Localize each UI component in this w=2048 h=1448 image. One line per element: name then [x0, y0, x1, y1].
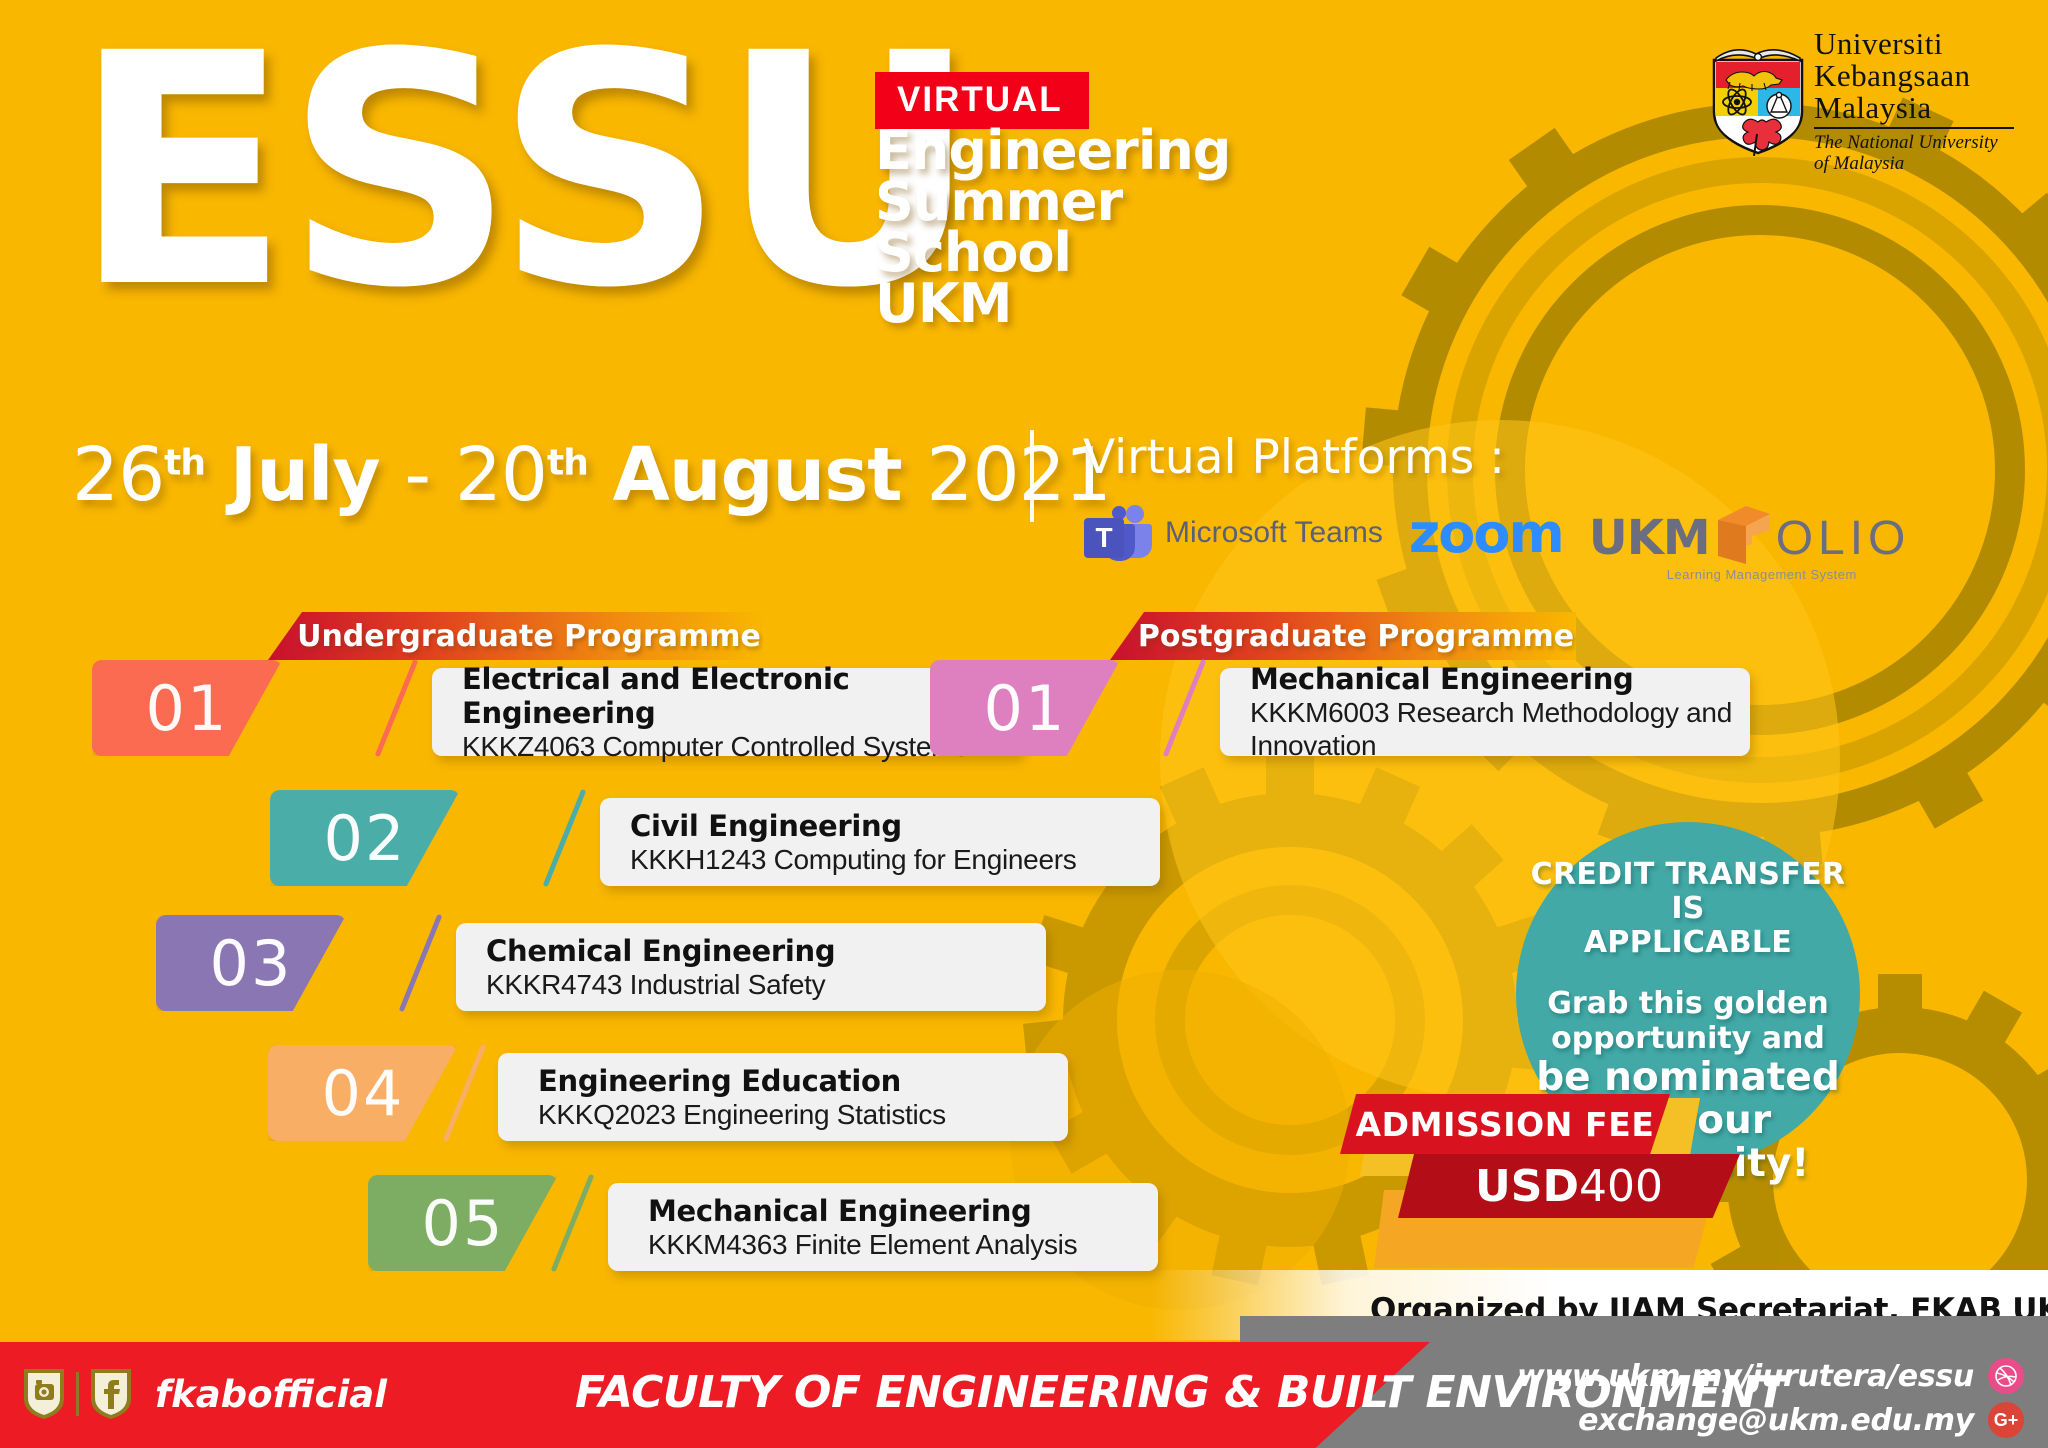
programme-course: KKKR4743 Industrial Safety [486, 968, 1046, 1001]
fee-ribbon-amount: USD400 [1398, 1154, 1740, 1218]
date-day-end: 20 [455, 432, 547, 518]
programme-row: Chemical Engineering KKKR4743 Industrial… [156, 915, 876, 1011]
accent-slash [375, 659, 419, 757]
contact-website[interactable]: www.ukm.my/jurutera/essu [1517, 1359, 1974, 1394]
ukm-tagline-1: The National University [1814, 132, 2014, 153]
ukm-line-3: Malaysia [1814, 92, 2014, 124]
page-title: ESSU [72, 22, 973, 322]
event-dates: 26th July - 20th August 2021 [72, 432, 1111, 518]
programme-row: Mechanical Engineering KKKM6003 Research… [930, 660, 1780, 756]
programme-number: 02 [324, 802, 407, 875]
google-plus-icon[interactable]: G+ [1988, 1402, 2024, 1438]
ukm-logo: Universiti Kebangsaan Malaysia The Natio… [1710, 28, 2020, 168]
accent-slash [1163, 659, 1207, 757]
facebook-icon[interactable] [89, 1367, 133, 1421]
contact-website-row[interactable]: www.ukm.my/jurutera/essu [1517, 1358, 2024, 1394]
date-day-start: 26 [72, 432, 164, 518]
programme-title: Engineering Education [538, 1064, 1068, 1098]
programme-number-badge: 02 [270, 790, 460, 886]
folio-cube-icon [1712, 500, 1774, 570]
credit-transfer-body-line-1: Grab this golden [1536, 986, 1840, 1021]
credit-transfer-headline-line-2: APPLICABLE [1516, 926, 1860, 960]
programme-number-badge: 04 [268, 1045, 458, 1141]
event-subtitle: Engineering Summer School UKM [875, 126, 1230, 330]
programme-card: Mechanical Engineering KKKM4363 Finite E… [608, 1183, 1158, 1271]
fee-ribbon-label: ADMISSION FEE [1340, 1094, 1670, 1154]
programme-number-badge: 03 [156, 915, 346, 1011]
programme-number: 04 [322, 1057, 405, 1130]
accent-slash [543, 789, 587, 887]
social-divider [76, 1372, 79, 1416]
programme-number-badge: 01 [930, 660, 1120, 756]
programme-card: Mechanical Engineering KKKM6003 Research… [1220, 668, 1750, 756]
social-links[interactable]: fkabofficial [22, 1367, 387, 1421]
programme-row: Civil Engineering KKKH1243 Computing for… [270, 790, 1030, 886]
programme-number: 05 [422, 1187, 505, 1260]
platforms-title: Virtual Platforms : [1083, 430, 1505, 485]
platform-ukm-folio: UKM OLIO Learning Management System [1589, 500, 1911, 566]
date-month-start: July [230, 432, 380, 518]
ukm-line-2: Kebangsaan [1814, 60, 2014, 92]
credit-transfer-headline-line-1: CREDIT TRANSFER IS [1516, 858, 1860, 926]
programme-row: Mechanical Engineering KKKM4363 Finite E… [368, 1175, 1068, 1271]
date-month-end: August [613, 432, 902, 518]
platform-logos: T Microsoft Teams zoom UKM OLIO Learning… [1083, 500, 1910, 566]
programme-number: 01 [146, 672, 229, 745]
accent-slash [399, 914, 443, 1012]
programme-card: Engineering Education KKKQ2023 Engineeri… [498, 1053, 1068, 1141]
ukm-wordmark: Universiti Kebangsaan Malaysia The Natio… [1814, 28, 2014, 174]
programme-title: Mechanical Engineering [648, 1194, 1158, 1228]
programme-course: KKKQ2023 Engineering Statistics [538, 1098, 1068, 1131]
ukm-folio-label-a: UKM [1589, 510, 1710, 566]
programme-number: 01 [984, 672, 1067, 745]
svg-text:T: T [1095, 522, 1112, 553]
admission-fee-value: 400 [1579, 1161, 1663, 1212]
subtitle-line-3: School [875, 228, 1230, 277]
programme-course: KKKH1243 Computing for Engineers [630, 843, 1160, 876]
subtitle-line-1: Engineering [875, 126, 1230, 175]
programme-number-badge: 05 [368, 1175, 558, 1271]
social-handle: fkabofficial [155, 1373, 387, 1416]
programme-row: Electrical and Electronic Engineering KK… [92, 660, 892, 756]
ukm-divider [1814, 127, 2014, 129]
contact-block: www.ukm.my/jurutera/essu exchange@ukm.ed… [1517, 1358, 2024, 1446]
zoom-label: zoom [1409, 502, 1563, 565]
ukm-folio-label-b: OLIO [1776, 511, 1911, 566]
admission-fee-amount: USD400 [1475, 1161, 1663, 1212]
undergraduate-section-header: Undergraduate Programme [268, 612, 764, 660]
programme-number: 03 [210, 927, 293, 1000]
contact-email-row[interactable]: exchange@ukm.edu.my G+ [1517, 1402, 2024, 1438]
programme-number-badge: 01 [92, 660, 282, 756]
subtitle-line-2: Summer [875, 177, 1230, 226]
programme-title: Mechanical Engineering [1250, 662, 1750, 696]
header-divider [1030, 430, 1034, 522]
microsoft-teams-label: Microsoft Teams [1165, 516, 1383, 550]
programme-course: KKKM4363 Finite Element Analysis [648, 1228, 1158, 1261]
credit-transfer-body-line-2: opportunity and [1536, 1021, 1840, 1056]
ukm-tagline-2: of Malaysia [1814, 153, 2014, 174]
date-dash: - [404, 432, 430, 518]
programme-card: Civil Engineering KKKH1243 Computing for… [600, 798, 1160, 886]
platform-microsoft-teams: T Microsoft Teams [1083, 502, 1383, 564]
accent-slash [551, 1174, 595, 1272]
subtitle-line-4: UKM [875, 279, 1230, 328]
programme-course: KKKM6003 Research Methodology and Innova… [1250, 696, 1750, 762]
admission-fee-currency: USD [1475, 1161, 1579, 1212]
ukm-line-1: Universiti [1814, 28, 2014, 60]
microsoft-teams-icon: T [1083, 502, 1155, 564]
dribbble-icon[interactable] [1988, 1358, 2024, 1394]
poster-root: ESSU VIRTUAL Engineering Summer School U… [0, 0, 2048, 1448]
programme-title: Chemical Engineering [486, 934, 1046, 968]
date-ord-start: th [164, 442, 205, 483]
programme-title: Civil Engineering [630, 809, 1160, 843]
date-ord-end: th [547, 442, 588, 483]
credit-transfer-headline: CREDIT TRANSFER IS APPLICABLE [1516, 858, 1860, 960]
ukm-folio-tagline: Learning Management System [1667, 567, 1857, 582]
admission-fee-banner: ADMISSION FEE USD400 [1340, 1078, 1760, 1278]
programme-row: Engineering Education KKKQ2023 Engineeri… [268, 1045, 988, 1141]
admission-fee-label: ADMISSION FEE [1356, 1105, 1655, 1144]
footer-gray-strip [1240, 1316, 2048, 1344]
ukm-shield-icon [1710, 38, 1806, 156]
contact-email[interactable]: exchange@ukm.edu.my [1578, 1403, 1974, 1438]
postgraduate-section-header: Postgraduate Programme [1110, 612, 1576, 660]
programme-card: Chemical Engineering KKKR4743 Industrial… [456, 923, 1046, 1011]
instagram-icon[interactable] [22, 1367, 66, 1421]
